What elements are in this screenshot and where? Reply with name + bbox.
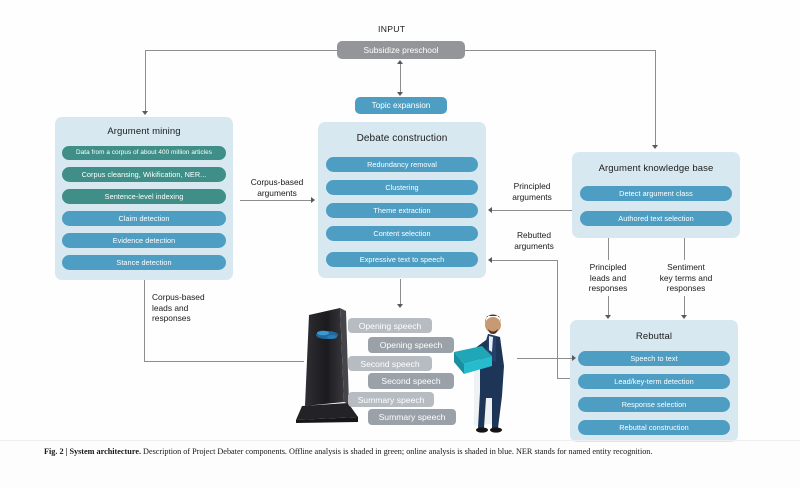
row-am-3: Claim detection bbox=[62, 211, 226, 226]
row-dc-2: Theme extraction bbox=[326, 203, 478, 218]
edge-rebutted-h bbox=[492, 260, 558, 261]
edge-topic-expansion bbox=[400, 63, 401, 94]
speech-bubble-2: Second speech bbox=[348, 356, 432, 371]
edge-principled-args bbox=[492, 210, 572, 211]
row-rb-0: Speech to text bbox=[578, 351, 730, 366]
edge-label-principled-leads: Principled leads and responses bbox=[570, 262, 646, 294]
edge-label-corpus-based-arguments: Corpus-based arguments bbox=[239, 177, 315, 198]
row-rb-3: Rebuttal construction bbox=[578, 420, 730, 435]
panel-title-debate-construction: Debate construction bbox=[318, 133, 486, 144]
arrow-sentiment-key-terms bbox=[681, 315, 687, 319]
row-dc-1: Clustering bbox=[326, 180, 478, 195]
arrow-principled-leads bbox=[605, 315, 611, 319]
row-am-1: Corpus cleansing, Wikification, NER... bbox=[62, 167, 226, 182]
arrow-dc-to-speech bbox=[397, 304, 403, 308]
row-rb-2: Response selection bbox=[578, 397, 730, 412]
row-dc-4: Expressive text to speech bbox=[326, 252, 478, 267]
edge-label-corpus-based-leads: Corpus-based leads and responses bbox=[152, 292, 232, 324]
panel-title-argument-knowledge-base: Argument knowledge base bbox=[572, 163, 740, 174]
edge-principled-leads-v2 bbox=[608, 296, 609, 316]
speech-bubble-3: Second speech bbox=[368, 373, 454, 389]
speech-bubble-1: Opening speech bbox=[368, 337, 454, 353]
arrow-corpus-args bbox=[311, 197, 315, 203]
arrow-topic-down bbox=[397, 92, 403, 96]
arrow-human-to-rebuttal bbox=[572, 355, 576, 361]
arrow-principled-args bbox=[488, 207, 492, 213]
edge-input-right-h bbox=[465, 50, 655, 51]
row-dc-3: Content selection bbox=[326, 226, 478, 241]
input-topic-box: Subsidize preschool bbox=[337, 41, 465, 59]
edge-corpus-leads-v bbox=[144, 280, 145, 362]
edge-label-sentiment-key-terms: Sentiment key terms and responses bbox=[644, 262, 728, 294]
input-label: INPUT bbox=[378, 24, 405, 34]
arrow-topic-up bbox=[397, 60, 403, 64]
edge-human-to-rebuttal bbox=[517, 358, 574, 359]
row-am-5: Stance detection bbox=[62, 255, 226, 270]
edge-input-right-v bbox=[655, 50, 656, 146]
row-akb-0: Detect argument class bbox=[580, 186, 732, 201]
edge-corpus-args bbox=[240, 200, 312, 201]
arrow-rebutted-args bbox=[488, 257, 492, 263]
speech-bubble-0: Opening speech bbox=[348, 318, 432, 333]
diagram-canvas: INPUT Subsidize preschool Topic expansio… bbox=[0, 0, 800, 440]
caption-text: Description of Project Debater component… bbox=[141, 447, 652, 456]
edge-sentiment-v1 bbox=[684, 238, 685, 260]
arrow-input-to-akb bbox=[652, 145, 658, 149]
speech-bubble-4: Summary speech bbox=[348, 392, 434, 407]
row-rb-1: Lead/key-term detection bbox=[578, 374, 730, 389]
row-am-4: Evidence detection bbox=[62, 233, 226, 248]
figure-caption: Fig. 2 | System architecture. Descriptio… bbox=[44, 446, 756, 458]
figure-root: INPUT Subsidize preschool Topic expansio… bbox=[0, 0, 800, 488]
edge-label-principled-arguments: Principled arguments bbox=[494, 181, 570, 202]
row-akb-1: Authored text selection bbox=[580, 211, 732, 226]
figure-divider bbox=[0, 440, 800, 441]
caption-label: Fig. 2 | System architecture. bbox=[44, 447, 141, 456]
edge-principled-leads-v1 bbox=[608, 238, 609, 260]
edge-rebutted-v bbox=[557, 260, 558, 378]
panel-title-argument-mining: Argument mining bbox=[55, 126, 233, 137]
edge-input-left-v bbox=[145, 50, 146, 112]
arrow-input-to-mining bbox=[142, 111, 148, 115]
edge-dc-to-speech bbox=[400, 279, 401, 305]
edge-sentiment-v2 bbox=[684, 296, 685, 316]
speech-bubble-5: Summary speech bbox=[368, 409, 456, 425]
row-dc-0: Redundancy removal bbox=[326, 157, 478, 172]
row-am-0: Data from a corpus of about 400 million … bbox=[62, 146, 226, 160]
edge-input-left-h bbox=[145, 50, 337, 51]
panel-title-rebuttal: Rebuttal bbox=[570, 331, 738, 342]
edge-label-rebutted-arguments: Rebutted arguments bbox=[494, 230, 574, 251]
topic-expansion-box: Topic expansion bbox=[355, 97, 447, 114]
row-am-2: Sentence-level indexing bbox=[62, 189, 226, 204]
edge-corpus-leads-h bbox=[144, 361, 304, 362]
human-debater bbox=[452, 300, 522, 435]
